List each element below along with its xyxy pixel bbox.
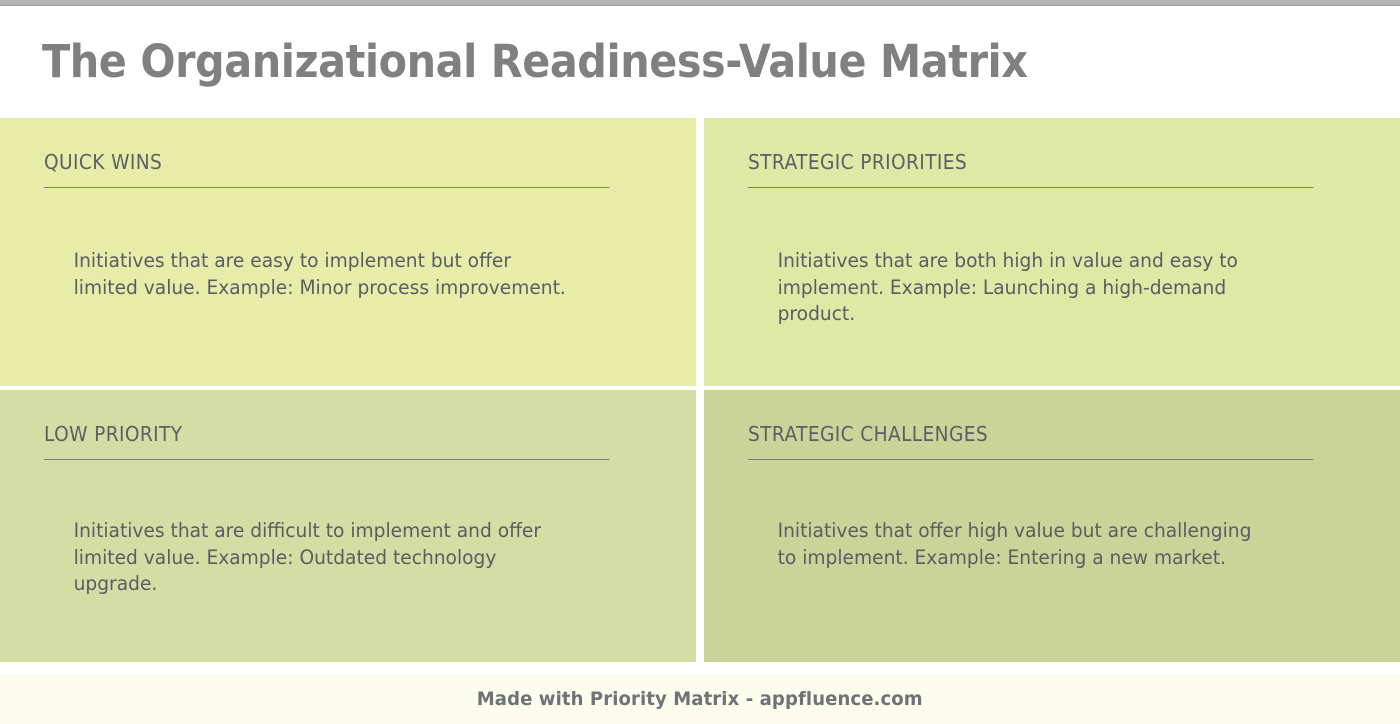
quadrant-description-low-priority: Initiatives that are difficult to implem… bbox=[44, 518, 625, 598]
matrix-page: The Organizational Readiness-Value Matri… bbox=[0, 0, 1400, 724]
priority-matrix-grid: QUICK WINS Initiatives that are easy to … bbox=[0, 118, 1400, 662]
quadrant-low-priority[interactable]: LOW PRIORITY Initiatives that are diffic… bbox=[0, 390, 696, 662]
quadrant-title-strategic-challenges: STRATEGIC CHALLENGES bbox=[748, 422, 1313, 460]
quadrant-strategic-priorities[interactable]: STRATEGIC PRIORITIES Initiatives that ar… bbox=[704, 118, 1400, 386]
footer-attribution[interactable]: Made with Priority Matrix - appfluence.c… bbox=[477, 688, 923, 710]
quadrant-description-strategic-priorities: Initiatives that are both high in value … bbox=[748, 248, 1329, 328]
quadrant-title-low-priority: LOW PRIORITY bbox=[44, 422, 609, 460]
quadrant-description-quick-wins: Initiatives that are easy to implement b… bbox=[44, 248, 625, 301]
quadrant-title-quick-wins: QUICK WINS bbox=[44, 150, 609, 188]
quadrant-quick-wins[interactable]: QUICK WINS Initiatives that are easy to … bbox=[0, 118, 696, 386]
quadrant-description-strategic-challenges: Initiatives that offer high value but ar… bbox=[748, 518, 1329, 571]
page-title: The Organizational Readiness-Value Matri… bbox=[42, 38, 1028, 85]
quadrant-title-strategic-priorities: STRATEGIC PRIORITIES bbox=[748, 150, 1313, 188]
page-footer: Made with Priority Matrix - appfluence.c… bbox=[0, 674, 1400, 724]
footer-spacer bbox=[0, 662, 1400, 674]
page-header: The Organizational Readiness-Value Matri… bbox=[0, 6, 1400, 118]
quadrant-strategic-challenges[interactable]: STRATEGIC CHALLENGES Initiatives that of… bbox=[704, 390, 1400, 662]
